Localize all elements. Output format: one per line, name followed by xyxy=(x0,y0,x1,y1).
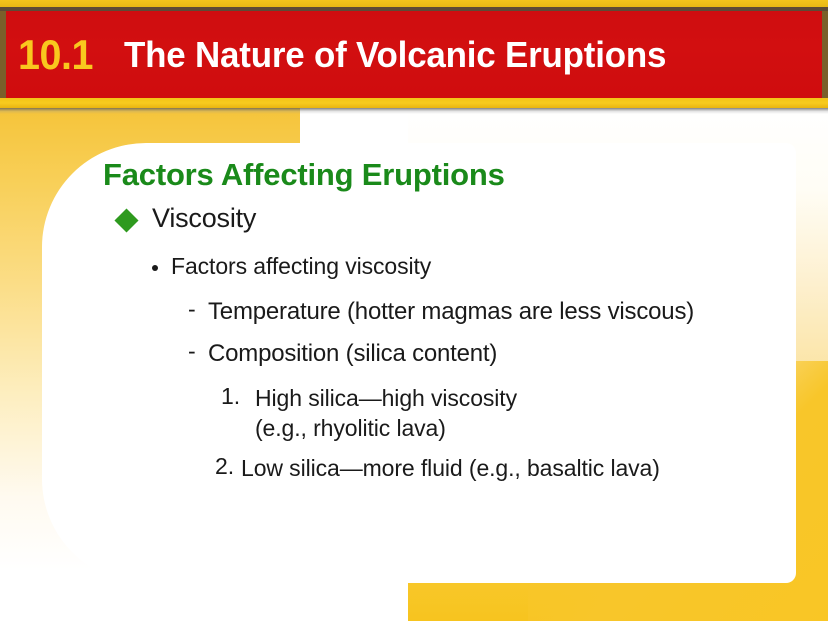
numbered-item-2: 2. Low silica—more fluid (e.g., basaltic… xyxy=(215,453,660,483)
bullet-level2-label: Factors affecting viscosity xyxy=(171,253,431,280)
bullet-level1-label: Viscosity xyxy=(152,203,256,234)
numbered-item-2-text: Low silica—more fluid (e.g., basaltic la… xyxy=(241,453,660,483)
numbered-item-1-text: High silica—high viscosity (e.g., rhyoli… xyxy=(255,383,517,444)
slide: 10.1 The Nature of Volcanic Eruptions Fa… xyxy=(0,0,828,621)
header-text-group: 10.1 The Nature of Volcanic Eruptions xyxy=(0,11,828,98)
numbered-item-1-line2: (e.g., rhyolitic lava) xyxy=(255,415,446,441)
header-drop-shadow xyxy=(0,108,828,114)
numbered-item-1: 1. High silica—high viscosity (e.g., rhy… xyxy=(221,383,517,444)
round-bullet-icon xyxy=(152,265,158,271)
diamond-bullet-icon xyxy=(114,208,138,232)
numbered-item-1-marker: 1. xyxy=(221,383,255,410)
header-top-trim xyxy=(0,0,828,7)
dash-bullet-icon: - xyxy=(188,340,204,363)
bullet-level3-composition: - Composition (silica content) xyxy=(188,340,497,368)
slide-header: 10.1 The Nature of Volcanic Eruptions xyxy=(0,0,828,112)
bullet-level3-temperature-label: Temperature (hotter magmas are less visc… xyxy=(208,298,694,326)
bullet-level2-factors: Factors affecting viscosity xyxy=(152,253,431,280)
chapter-number: 10.1 xyxy=(18,31,93,79)
bullet-level3-composition-label: Composition (silica content) xyxy=(208,340,497,368)
section-heading: Factors Affecting Eruptions xyxy=(103,157,505,193)
dash-bullet-icon: - xyxy=(188,298,204,321)
slide-title: The Nature of Volcanic Eruptions xyxy=(124,34,666,76)
numbered-item-2-marker: 2. xyxy=(215,453,241,480)
bullet-level1-viscosity: Viscosity xyxy=(118,203,256,234)
header-bottom-trim xyxy=(0,98,828,108)
bullet-level3-temperature: - Temperature (hotter magmas are less vi… xyxy=(188,298,694,326)
numbered-item-1-line1: High silica—high viscosity xyxy=(255,385,517,411)
